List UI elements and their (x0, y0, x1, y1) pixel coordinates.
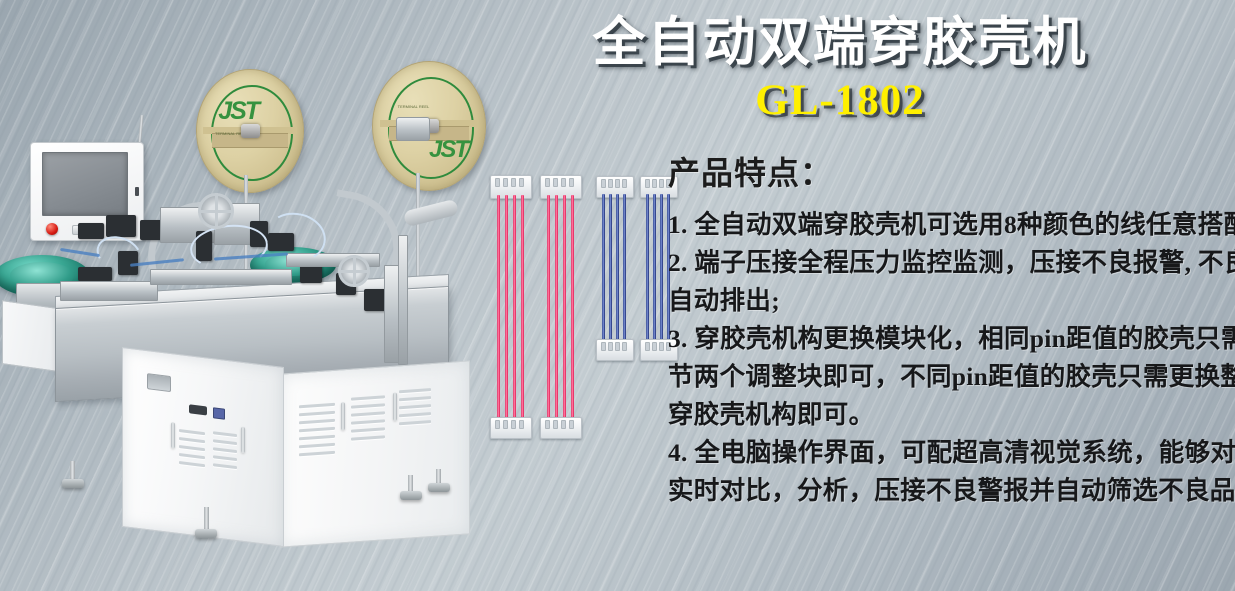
cabinet-door-handle[interactable] (393, 392, 397, 420)
machine-cabinet-front (122, 347, 284, 547)
mechanism-block (78, 223, 104, 239)
feature-line: 3. 穿胶壳机构更换模块化，相同pin距值的胶壳只需调 (668, 320, 1228, 358)
mechanism-block (106, 215, 136, 237)
reel-sub-label: TERMINAL REEL (398, 104, 430, 109)
cabinet-window (147, 373, 171, 392)
wire-bundle (596, 194, 632, 341)
monitor-screen[interactable] (42, 152, 128, 216)
harness-pink-1 (490, 175, 530, 437)
model-number: GL-1802 (470, 76, 1210, 125)
cabinet-door-handle[interactable] (341, 402, 345, 430)
machine-cabinet-side (280, 360, 470, 547)
page-title: 全自动双端穿胶壳机 (470, 16, 1210, 72)
connector-housing-bottom (490, 417, 532, 439)
leveling-foot (428, 483, 450, 492)
product-poster: JST TERMINAL REEL JST TERMINAL REEL (0, 0, 1235, 591)
feed-rail (60, 281, 158, 301)
leveling-foot (195, 529, 217, 538)
connector-housing-bottom (596, 339, 634, 361)
feature-line: 1. 全自动双端穿胶壳机可选用8种颜色的线任意搭配; (668, 206, 1228, 244)
wire-bundle (490, 195, 530, 419)
title-block: 全自动双端穿胶壳机 GL-1802 (470, 16, 1210, 125)
leveling-foot (400, 491, 422, 500)
feature-line: 自动排出; (668, 282, 1228, 320)
reel-brand-label: JST (218, 97, 258, 126)
transfer-rail (150, 269, 292, 285)
harness-blue-1 (596, 176, 632, 359)
cabinet-door-handle[interactable] (241, 427, 245, 453)
cabinet-door-handle[interactable] (171, 422, 175, 448)
reel-post-right (416, 173, 420, 277)
wire-guide-arm-far-right (403, 199, 459, 228)
harness-pink-2 (540, 175, 580, 437)
terminal-reel-left: JST TERMINAL REEL (196, 69, 304, 193)
monitor-latch-icon (135, 187, 139, 196)
connector-housing-bottom (540, 417, 582, 439)
hand-wheel[interactable] (198, 193, 234, 229)
reel-guide-block (396, 117, 430, 141)
vertical-column (398, 235, 408, 365)
feature-line: 4. 全电脑操作界面，可配超高清视觉系统，能够对产品 (668, 434, 1228, 472)
wire-bundle (540, 195, 580, 419)
power-switch-icon[interactable] (189, 404, 207, 415)
indicator-lamp (213, 407, 225, 419)
pneumatic-tube-blue (60, 248, 100, 257)
feature-line: 2. 端子压接全程压力监控监测，压接不良报警, 不良品 (668, 244, 1228, 282)
product-features: 产品特点： 1. 全自动双端穿胶壳机可选用8种颜色的线任意搭配; 2. 端子压接… (668, 148, 1228, 510)
mechanism-block (140, 220, 162, 240)
reel-hub (241, 124, 260, 138)
hand-wheel[interactable] (338, 255, 370, 287)
feature-line: 穿胶壳机构即可。 (668, 396, 1228, 434)
mechanism-block (78, 267, 112, 281)
machine-illustration: JST TERMINAL REEL JST TERMINAL REEL (0, 55, 500, 591)
feature-line: 实时对比，分析，压接不良警报并自动筛选不良品。 (668, 472, 1228, 510)
emergency-stop-button[interactable] (46, 223, 58, 235)
features-heading: 产品特点： (668, 148, 1228, 194)
leveling-foot (62, 479, 84, 488)
reel-brand-label: JST (429, 136, 467, 164)
feature-line: 节两个调整块即可，不同pin距值的胶壳只需更换整组 (668, 358, 1228, 396)
